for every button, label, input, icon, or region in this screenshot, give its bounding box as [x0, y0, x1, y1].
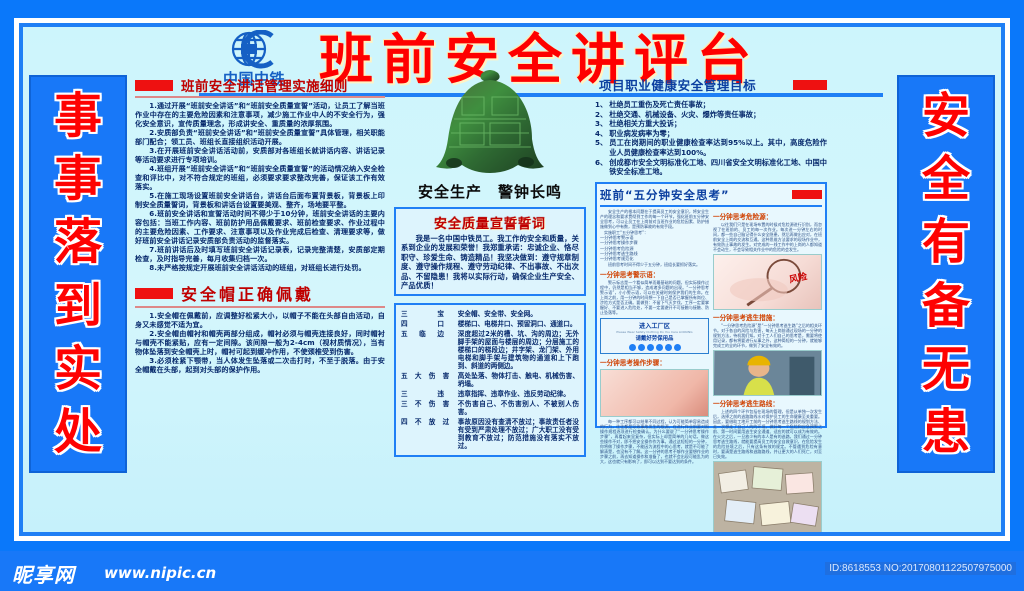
goals-divider	[595, 95, 827, 97]
section-divider	[135, 306, 385, 308]
table-row: 四 不 放 过 事故原因没有查清不放过；事故责任者没有受到严肃处理不放过；广大职…	[400, 417, 580, 451]
goggles-icon	[638, 344, 645, 351]
list-item: 3、 杜绝相关方重大投诉；	[595, 119, 827, 129]
goal-num-4: 5、	[595, 138, 607, 157]
thinking-panel-columns: 安全生产的根本问题在于提高员工的安全意识，将安全生产的理念和要求贯彻到工作的每一…	[600, 209, 822, 433]
term-key-1: 四 口	[400, 319, 457, 329]
list-item: 5、 员工在岗期间的职业健康检查率达到95%以上。其中，高度危险作业人员健康检查…	[595, 138, 827, 157]
sign-title: 进入工厂区	[604, 321, 705, 330]
term-key-2: 五 临 边	[400, 329, 457, 371]
safety-terms-box: 三 宝 安全帽、安全带、安全网。 四 口 楼梯口、电梯井口、预留洞口、通道口。 …	[394, 303, 586, 457]
section-divider	[135, 96, 385, 98]
oath-text: 我是一名中国中铁员工。我工作的安全和质量，关系到企业的发展和荣誉！我郑重承诺：忠…	[401, 234, 579, 290]
thinking-left-column: 安全生产的根本问题在于提高员工的安全意识，将安全生产的理念和要求贯彻到工作的每一…	[600, 209, 709, 433]
factory-sign-illustration: 进入工厂区 Please Wear Safety Clothing Do You…	[600, 318, 709, 354]
content-columns: 班前安全讲话管理实施细则 1.通过开展“班前安全讲话”和“班前安全质量宣誓”活动…	[135, 75, 935, 515]
sign-subtitle: 请戴好劳保用品	[604, 334, 705, 342]
term-val-3: 高处坠落、物体打击、触电、机械伤害、坍塌。	[457, 371, 580, 389]
section-header-rules: 班前安全讲话管理实施细则	[135, 75, 385, 95]
escape-measures-text: “一分钟思考危险源”是“一分钟思考逃生路”之后的相关环节。对于各自的风险与危害，…	[713, 323, 822, 348]
image-id-badge: ID:8618553 NO:20170801122507975000	[825, 562, 1016, 575]
watermark-footer: 昵享网 www.nipic.cn ID:8618553 NO:201708011…	[0, 551, 1024, 591]
term-key-0: 三 宝	[400, 309, 457, 319]
brain-diagram-photo	[600, 369, 709, 417]
red-block-icon	[793, 80, 827, 90]
goals-title: 项目职业健康安全管理目标	[595, 75, 756, 94]
term-key-4: 三 违	[400, 389, 457, 399]
left-slogan-char-2: 落	[54, 218, 102, 266]
boots-icon	[674, 344, 681, 351]
term-val-6: 事故原因没有查清不放过；事故责任者没有受到严肃处理不放过；广大职工没有受到教育不…	[457, 417, 580, 451]
term-val-4: 违章指挥、违章作业、违反劳动纪律。	[457, 389, 580, 399]
warning-words-text: 警示标志是一个看似简单而最基础的问题，但实际操作过程中，仍然是相当不够，造成诸多…	[600, 280, 709, 315]
section-title-helmet: 安全帽正确佩戴	[181, 281, 314, 305]
worker-helmet-icon	[714, 351, 821, 395]
goal-txt-5: 创成都市安全文明标准化工地、四川省安全文明标准化工地、中国中铁安全标准工地。	[609, 158, 827, 177]
table-row: 三 不 伤 害 不伤害自己、不伤害别人、不被别人伤害。	[400, 399, 580, 417]
oath-title: 安全质量宣誓誓词	[401, 213, 579, 232]
five-minute-thinking-panel: 班前“五分钟安全思考” 安全生产的根本问题在于提高员工的安全意识，将安全生产的理…	[595, 182, 827, 428]
hazard-source-text: 以往我们只是在现场布置的时候对危险源进行识别，而忽视了在班前的、员工的每一次作业…	[713, 222, 822, 252]
subsection-operation-steps: 一分钟思考操作步骤：	[600, 357, 709, 367]
helmet-body: 1.安全帽在佩戴前，应调整好松紧大小，以帽子不能在头部自由活动，自身又未感觉不适…	[135, 311, 385, 374]
list-item: 6、 创成都市安全文明标准化工地、四川省安全文明标准化工地、中国中铁安全标准工地…	[595, 158, 827, 177]
vest-icon	[665, 344, 672, 351]
helmet-para-2: 3.必须栓紧下颚带，当人体发生坠落或二次击打时，不至于脱落。由于安全帽戴在头部，…	[135, 356, 385, 374]
thinking-panel-title: 班前“五分钟安全思考”	[600, 187, 730, 203]
left-slogan-char-0: 事	[54, 92, 102, 140]
left-slogan-char-1: 事	[54, 155, 102, 203]
warning-words-body: 警示标志是一个看似简单而最基础的问题，但实际操作过程中，仍然是相当不够，造成诸多…	[600, 280, 709, 315]
thinking-intro-text: 安全生产的根本问题在于提高员工的安全意识，将安全生产的理念和要求贯彻到工作的每一…	[600, 209, 709, 229]
goal-num-2: 3、	[595, 119, 607, 129]
operation-steps-text: 每一种工序都可以结果不同过程，认为可能简单容易造成的行为，往往都是导致事故发生的…	[600, 419, 709, 464]
table-row: 四 口 楼梯口、电梯井口、预留洞口、通道口。	[400, 319, 580, 329]
escape-route-text: 上述的四个环节包括在现场的管理，但是从单独一次发生后，选择之前的逃路路线水对保护…	[713, 409, 822, 459]
oath-body: 我是一名中国中铁员工。我工作的安全和质量，关系到企业的发展和荣誉！我郑重承诺：忠…	[401, 234, 579, 290]
rules-para-0: 1.通过开展“班前安全讲话”和“班前安全质量宣誓”活动，让员工了解当班作业中存在…	[135, 101, 385, 128]
goals-header: 项目职业健康安全管理目标	[595, 75, 827, 94]
thinking-bullets: 一分钟思考警示语 一分钟思考操作步骤 一分钟思考危险源 一分钟思考逃生路线 一分…	[600, 235, 709, 262]
bronze-bell-icon	[424, 67, 556, 179]
term-val-0: 安全帽、安全带、安全网。	[457, 309, 580, 319]
subsection-escape-route: 一分钟思考逃生路线：	[713, 398, 822, 408]
worker-photo	[713, 350, 822, 396]
operation-steps-body: 每一种工序都可以结果不同过程，认为可能简单容易造成的行为，往往都是导致事故发生的…	[600, 419, 709, 464]
site-url[interactable]: www.nipic.cn	[104, 564, 216, 582]
site-logo-text: 昵享网	[12, 559, 75, 588]
globe-rail-logo-icon	[226, 30, 282, 70]
goal-num-5: 6、	[595, 158, 607, 177]
term-val-1: 楼梯口、电梯井口、预留洞口、通道口。	[457, 319, 580, 329]
rules-para-2: 3.在开展班前安全讲话活动前，安质部对各班组长就讲话内容、讲话记录等活动要求进行…	[135, 146, 385, 164]
goal-txt-4: 员工在岗期间的职业健康检查率达到95%以上。其中，高度危险作业人员健康检查率达到…	[609, 138, 827, 157]
thinking-note: 班前思考时间不得少于五分钟，班组长要抓好落实。	[600, 262, 709, 267]
subsection-escape-measures: 一分钟思考逃生措施：	[713, 312, 822, 322]
term-key-5: 三 不 伤 害	[400, 399, 457, 417]
goals-list: 1、 杜绝员工重伤及死亡责任事故； 2、 杜绝交通、机械设备、火灾、爆炸等责任事…	[595, 100, 827, 177]
goal-txt-0: 杜绝员工重伤及死亡责任事故；	[609, 100, 710, 110]
rules-para-3: 4.班组开展“班前安全讲话”和“班前安全质量宣誓”的活动情况纳入安全检查和评比中…	[135, 164, 385, 191]
left-content-column: 班前安全讲话管理实施细则 1.通过开展“班前安全讲话”和“班前安全质量宣誓”活动…	[135, 75, 385, 515]
red-block-icon	[135, 80, 173, 91]
gloves-icon	[656, 344, 663, 351]
list-item: 4、 职业病发病率为零；	[595, 129, 827, 139]
section-header-helmet: 安全帽正确佩戴	[135, 281, 385, 305]
thinking-panel-header: 班前“五分钟安全思考”	[600, 187, 822, 207]
table-row: 五 临 边 深度超过2米的槽、坑、沟的周边；无外脚手架的屋面与楼层的周边；分层施…	[400, 329, 580, 371]
list-item: 1、 杜绝员工重伤及死亡责任事故；	[595, 100, 827, 110]
poster-canvas: 中国中铁 班前安全讲评台 事 事 落 到 实 处 安 全 有 备 无	[0, 0, 1024, 551]
rules-para-1: 2.安质部负责“班前安全讲话”和“班前安全质量宣誓”具体管理，相关职能部门配合；…	[135, 128, 385, 146]
term-val-5: 不伤害自己、不伤害别人、不被别人伤害。	[457, 399, 580, 417]
escape-measures-body: “一分钟思考危险源”是“一分钟思考逃生路”之后的相关环节。对于各自的风险与危害，…	[713, 323, 822, 348]
goal-txt-3: 职业病发病率为零；	[609, 129, 674, 139]
left-slogan-banner: 事 事 落 到 实 处	[29, 75, 127, 473]
right-content-column: 项目职业健康安全管理目标 1、 杜绝员工重伤及死亡责任事故； 2、 杜绝交通、机…	[595, 75, 827, 515]
thinking-note-text: 班前思考时间不得少于五分钟，班组长要抓好落实。	[600, 262, 709, 267]
red-block-icon	[792, 190, 822, 199]
helmet-icon	[629, 344, 636, 351]
poster-stage: 中国中铁 班前安全讲评台 事 事 落 到 实 处 安 全 有 备 无	[23, 27, 1001, 532]
subsection-warning-words: 一分钟思考警示语：	[600, 269, 709, 279]
hazard-source-body: 以往我们只是在现场布置的时候对危险源进行识别，而忽视了在班前的、员工的每一次作业…	[713, 222, 822, 252]
mask-icon	[647, 344, 654, 351]
poster-blue-border: 中国中铁 班前安全讲评台 事 事 落 到 实 处 安 全 有 备 无	[19, 23, 1005, 536]
safety-terms-table: 三 宝 安全帽、安全带、安全网。 四 口 楼梯口、电梯井口、预留洞口、通道口。 …	[400, 309, 580, 451]
helmet-para-0: 1.安全帽在佩戴前，应调整好松紧大小，以帽子不能在头部自由活动，自身又未感觉不适…	[135, 311, 385, 329]
subsection-hazard-source: 一分钟思考危险源：	[713, 211, 822, 221]
left-slogan-text: 事 事 落 到 实 处	[31, 77, 125, 471]
documents-photo	[713, 461, 822, 532]
ppe-icons-row	[604, 344, 705, 351]
left-slogan-char-3: 到	[54, 282, 102, 330]
paper-cards-icon	[714, 462, 821, 532]
escape-route-body: 上述的四个环节包括在现场的管理，但是从单独一次发生后，选择之前的逃路路线水对保护…	[713, 409, 822, 459]
red-block-icon	[135, 288, 173, 299]
term-key-6: 四 不 放 过	[400, 417, 457, 451]
rules-para-5: 6.班前安全讲话和宣誓活动时间不得少于10分钟，班前安全讲话的主要内容包括：当班…	[135, 209, 385, 245]
goal-txt-2: 杜绝相关方重大投诉；	[609, 119, 681, 129]
term-val-2: 深度超过2米的槽、坑、沟的周边；无外脚手架的屋面与楼层的周边；分层施工的楼梯口的…	[457, 329, 580, 371]
oath-box: 安全质量宣誓誓词 我是一名中国中铁员工。我工作的安全和质量，关系到企业的发展和荣…	[394, 207, 586, 296]
section-title-rules: 班前安全讲话管理实施细则	[181, 75, 348, 95]
rules-para-7: 8.未严格按规定开展班前安全讲话活动的班组，对班组长进行处罚。	[135, 263, 385, 272]
term-key-3: 五 大 伤 害	[400, 371, 457, 389]
table-row: 五 大 伤 害 高处坠落、物体打击、触电、机械伤害、坍塌。	[400, 371, 580, 389]
goal-num-1: 2、	[595, 110, 607, 120]
rules-para-6: 7.班前讲话后及时填写班前安全讲话记录表，记录完整清楚，安质部定期检查，及时指导…	[135, 245, 385, 263]
rules-para-4: 5.在施工现场设置班前安全讲话台，讲话台后面布置背景板，背景板上印制安全质量誓词…	[135, 191, 385, 209]
bell-slogan: 安全生产 警钟长鸣	[394, 181, 586, 202]
table-row: 三 违 违章指挥、违章作业、违反劳动纪律。	[400, 389, 580, 399]
rules-body: 1.通过开展“班前安全讲话”和“班前安全质量宣誓”活动，让员工了解当班作业中存在…	[135, 101, 385, 272]
thinking-intro: 安全生产的根本问题在于提高员工的安全意识，将安全生产的理念和要求贯彻到工作的每一…	[600, 209, 709, 229]
list-item: 2、 杜绝交通、机械设备、火灾、爆炸等责任事故；	[595, 110, 827, 120]
helmet-para-1: 2.安全帽由帽衬和帽壳两部分组成，帽衬必须与帽壳连接良好，同时帽衬与帽壳不能紧贴…	[135, 329, 385, 356]
middle-content-column: 安全生产 警钟长鸣 安全质量宣誓誓词 我是一名中国中铁员工。我工作的安全和质量，…	[394, 75, 586, 515]
magnifier-risk-photo: 风险	[713, 254, 822, 310]
left-slogan-char-5: 处	[54, 408, 102, 456]
poster-white-border: 中国中铁 班前安全讲评台 事 事 落 到 实 处 安 全 有 备 无	[14, 18, 1010, 541]
thinking-right-column: 一分钟思考危险源： 以往我们只是在现场布置的时候对危险源进行识别，而忽视了在班前…	[713, 209, 822, 433]
left-slogan-char-4: 实	[54, 345, 102, 393]
table-row: 三 宝 安全帽、安全带、安全网。	[400, 309, 580, 319]
bell-illustration	[394, 67, 586, 179]
goal-num-0: 1、	[595, 100, 607, 110]
goal-num-3: 4、	[595, 129, 607, 139]
goal-txt-1: 杜绝交通、机械设备、火灾、爆炸等责任事故；	[609, 110, 760, 120]
